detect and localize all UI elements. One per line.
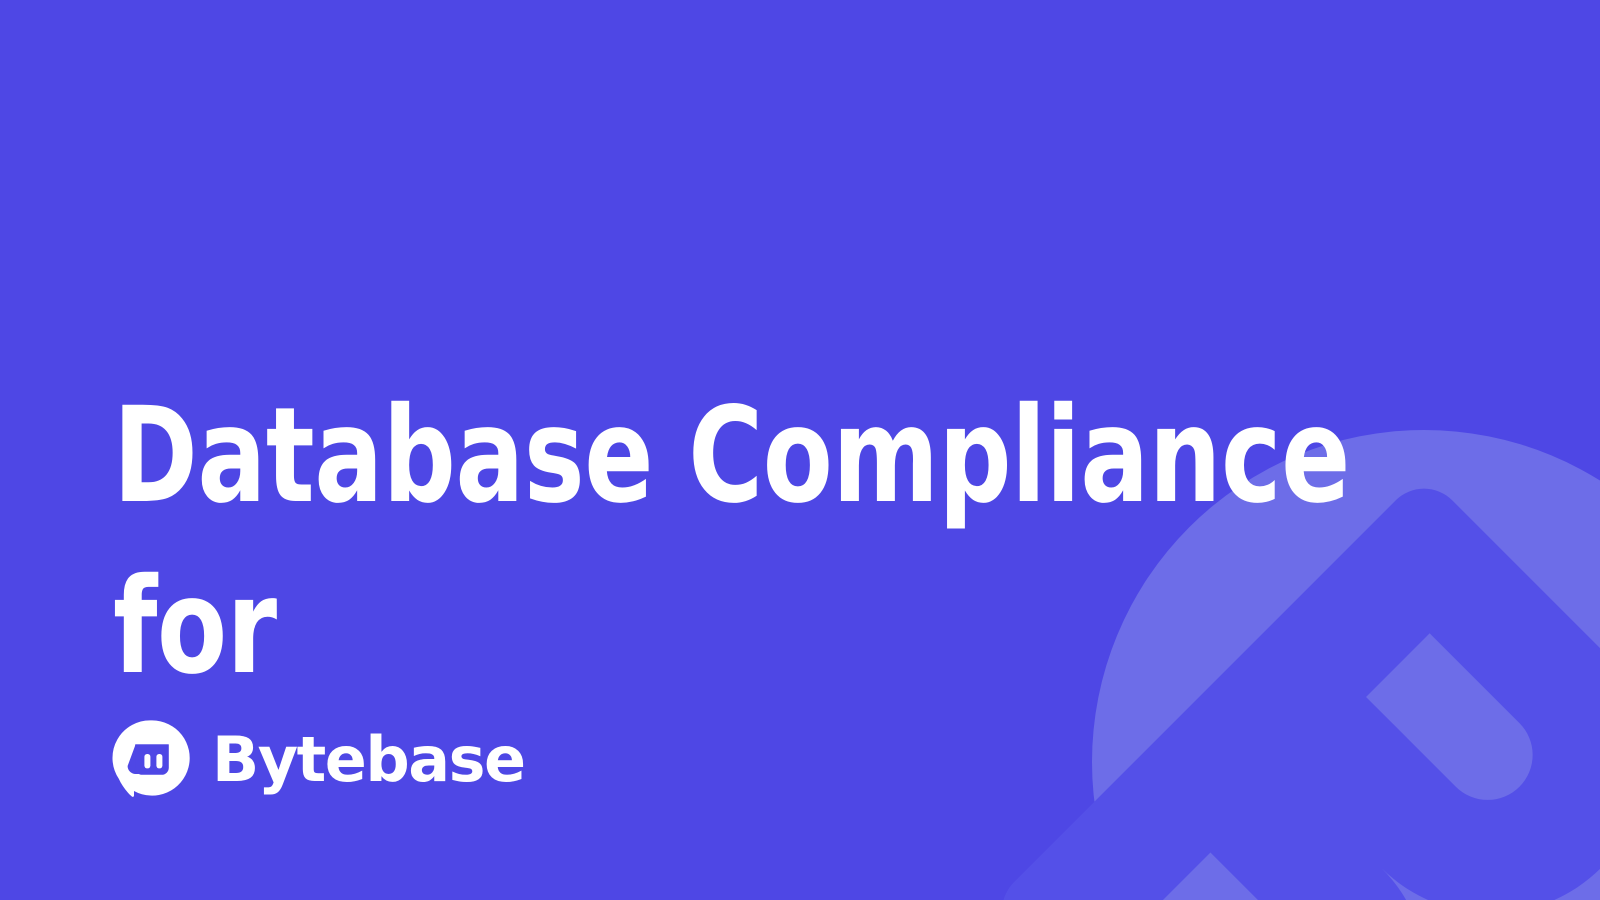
- headline-line-2: HITRUST: Controls, Risks,: [113, 884, 1351, 900]
- share-card-banner: Database Compliance for HITRUST: Control…: [0, 0, 1600, 900]
- bytebase-logo-icon: [112, 718, 192, 798]
- bytebase-wordmark: Bytebase: [212, 729, 525, 791]
- brand-lockup: Bytebase: [112, 718, 525, 798]
- headline-line-1: Database Compliance for: [113, 371, 1351, 713]
